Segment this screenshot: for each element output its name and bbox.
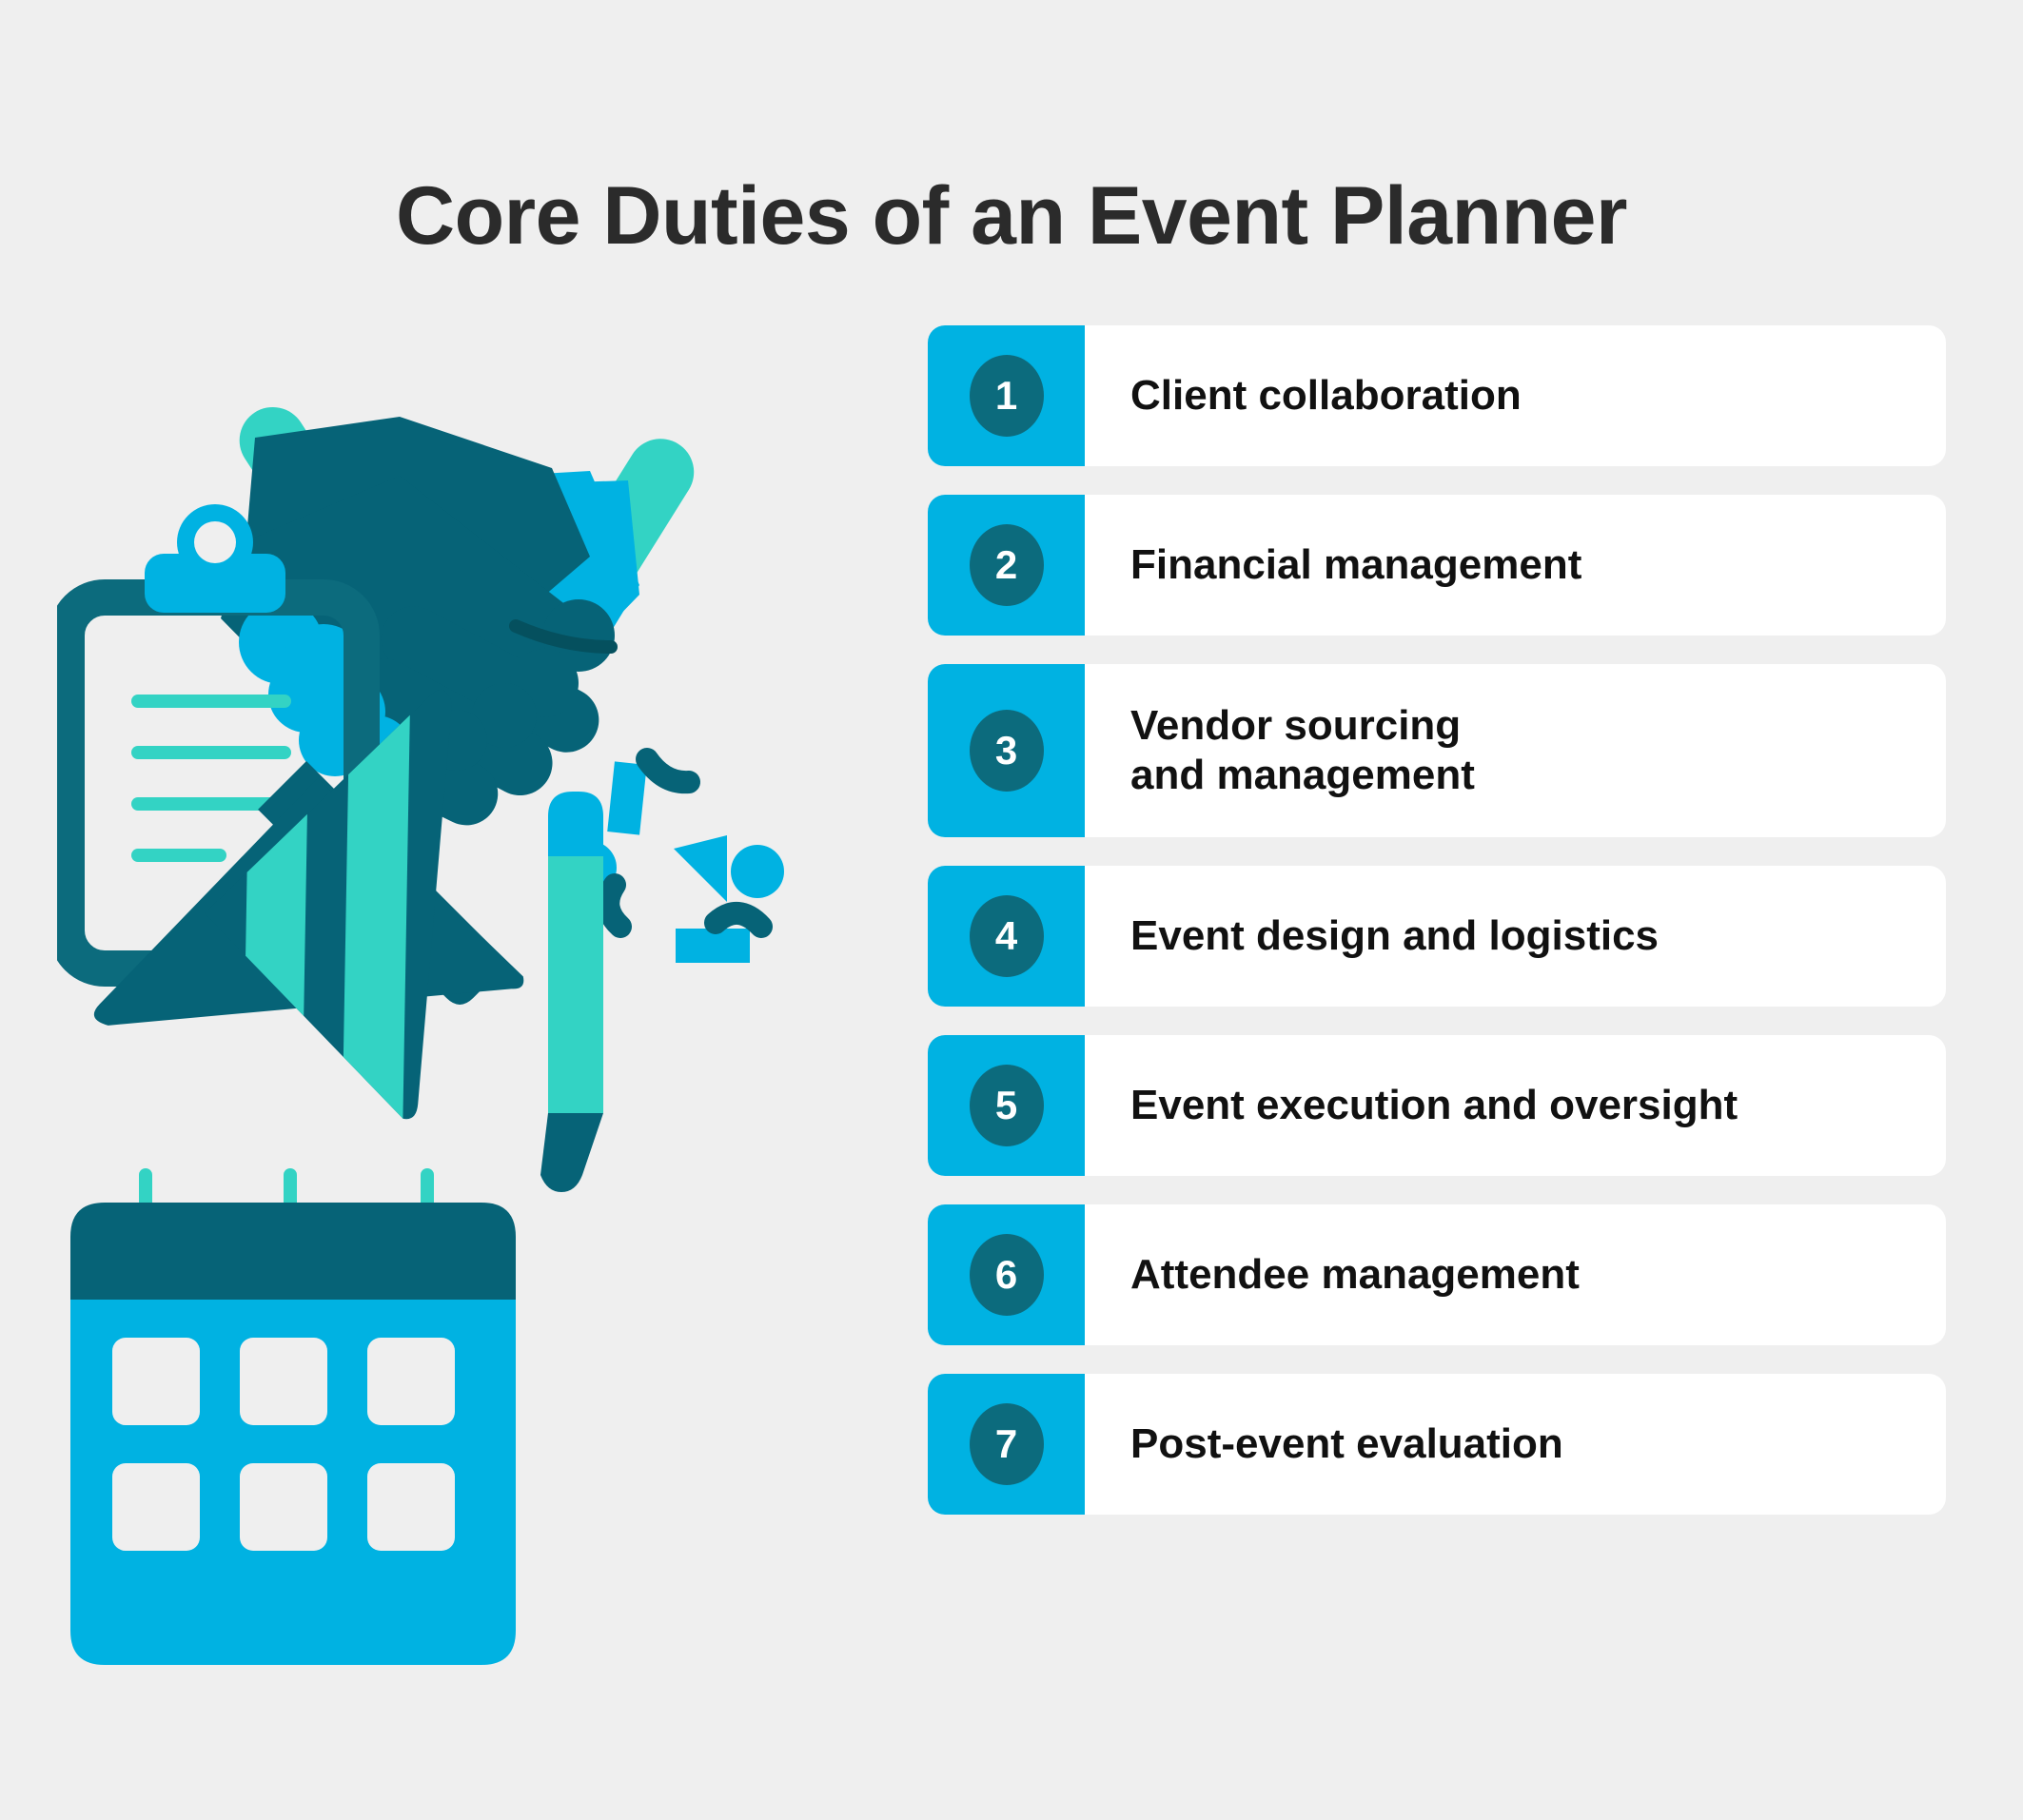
- badge-background: 3: [928, 664, 1085, 837]
- infographic-page: Core Duties of an Event Planner: [0, 0, 2023, 1820]
- page-title: Core Duties of an Event Planner: [0, 169, 2023, 264]
- item-label: Event design and logistics: [1085, 911, 1946, 961]
- item-label: Vendor sourcing and management: [1085, 701, 1946, 800]
- duties-list: 1 Client collaboration 2 Financial manag…: [928, 325, 1946, 1543]
- list-item[interactable]: 1 Client collaboration: [928, 325, 1946, 466]
- list-item[interactable]: 4 Event design and logistics: [928, 866, 1946, 1007]
- item-number-badge: 7: [970, 1403, 1044, 1485]
- badge-background: 5: [928, 1035, 1085, 1176]
- item-label: Attendee management: [1085, 1250, 1946, 1300]
- item-label: Client collaboration: [1085, 371, 1946, 421]
- badge-background: 4: [928, 866, 1085, 1007]
- illustration-group: [57, 381, 894, 1712]
- list-item[interactable]: 3 Vendor sourcing and management: [928, 664, 1946, 837]
- item-number-badge: 4: [970, 895, 1044, 977]
- badge-background: 7: [928, 1374, 1085, 1515]
- item-number-badge: 2: [970, 524, 1044, 606]
- badge-background: 1: [928, 325, 1085, 466]
- item-number-badge: 6: [970, 1234, 1044, 1316]
- item-number-badge: 5: [970, 1065, 1044, 1146]
- list-item[interactable]: 5 Event execution and oversight: [928, 1035, 1946, 1176]
- list-item[interactable]: 6 Attendee management: [928, 1204, 1946, 1345]
- pencil-icon: [540, 792, 603, 1192]
- calendar-icon: [70, 1168, 516, 1665]
- item-label: Post-event evaluation: [1085, 1419, 1946, 1469]
- list-item[interactable]: 7 Post-event evaluation: [928, 1374, 1946, 1515]
- badge-background: 6: [928, 1204, 1085, 1345]
- item-number-badge: 3: [970, 710, 1044, 792]
- item-number-badge: 1: [970, 355, 1044, 437]
- list-item[interactable]: 2 Financial management: [928, 495, 1946, 636]
- item-label: Event execution and oversight: [1085, 1081, 1946, 1130]
- badge-background: 2: [928, 495, 1085, 636]
- item-label: Financial management: [1085, 540, 1946, 590]
